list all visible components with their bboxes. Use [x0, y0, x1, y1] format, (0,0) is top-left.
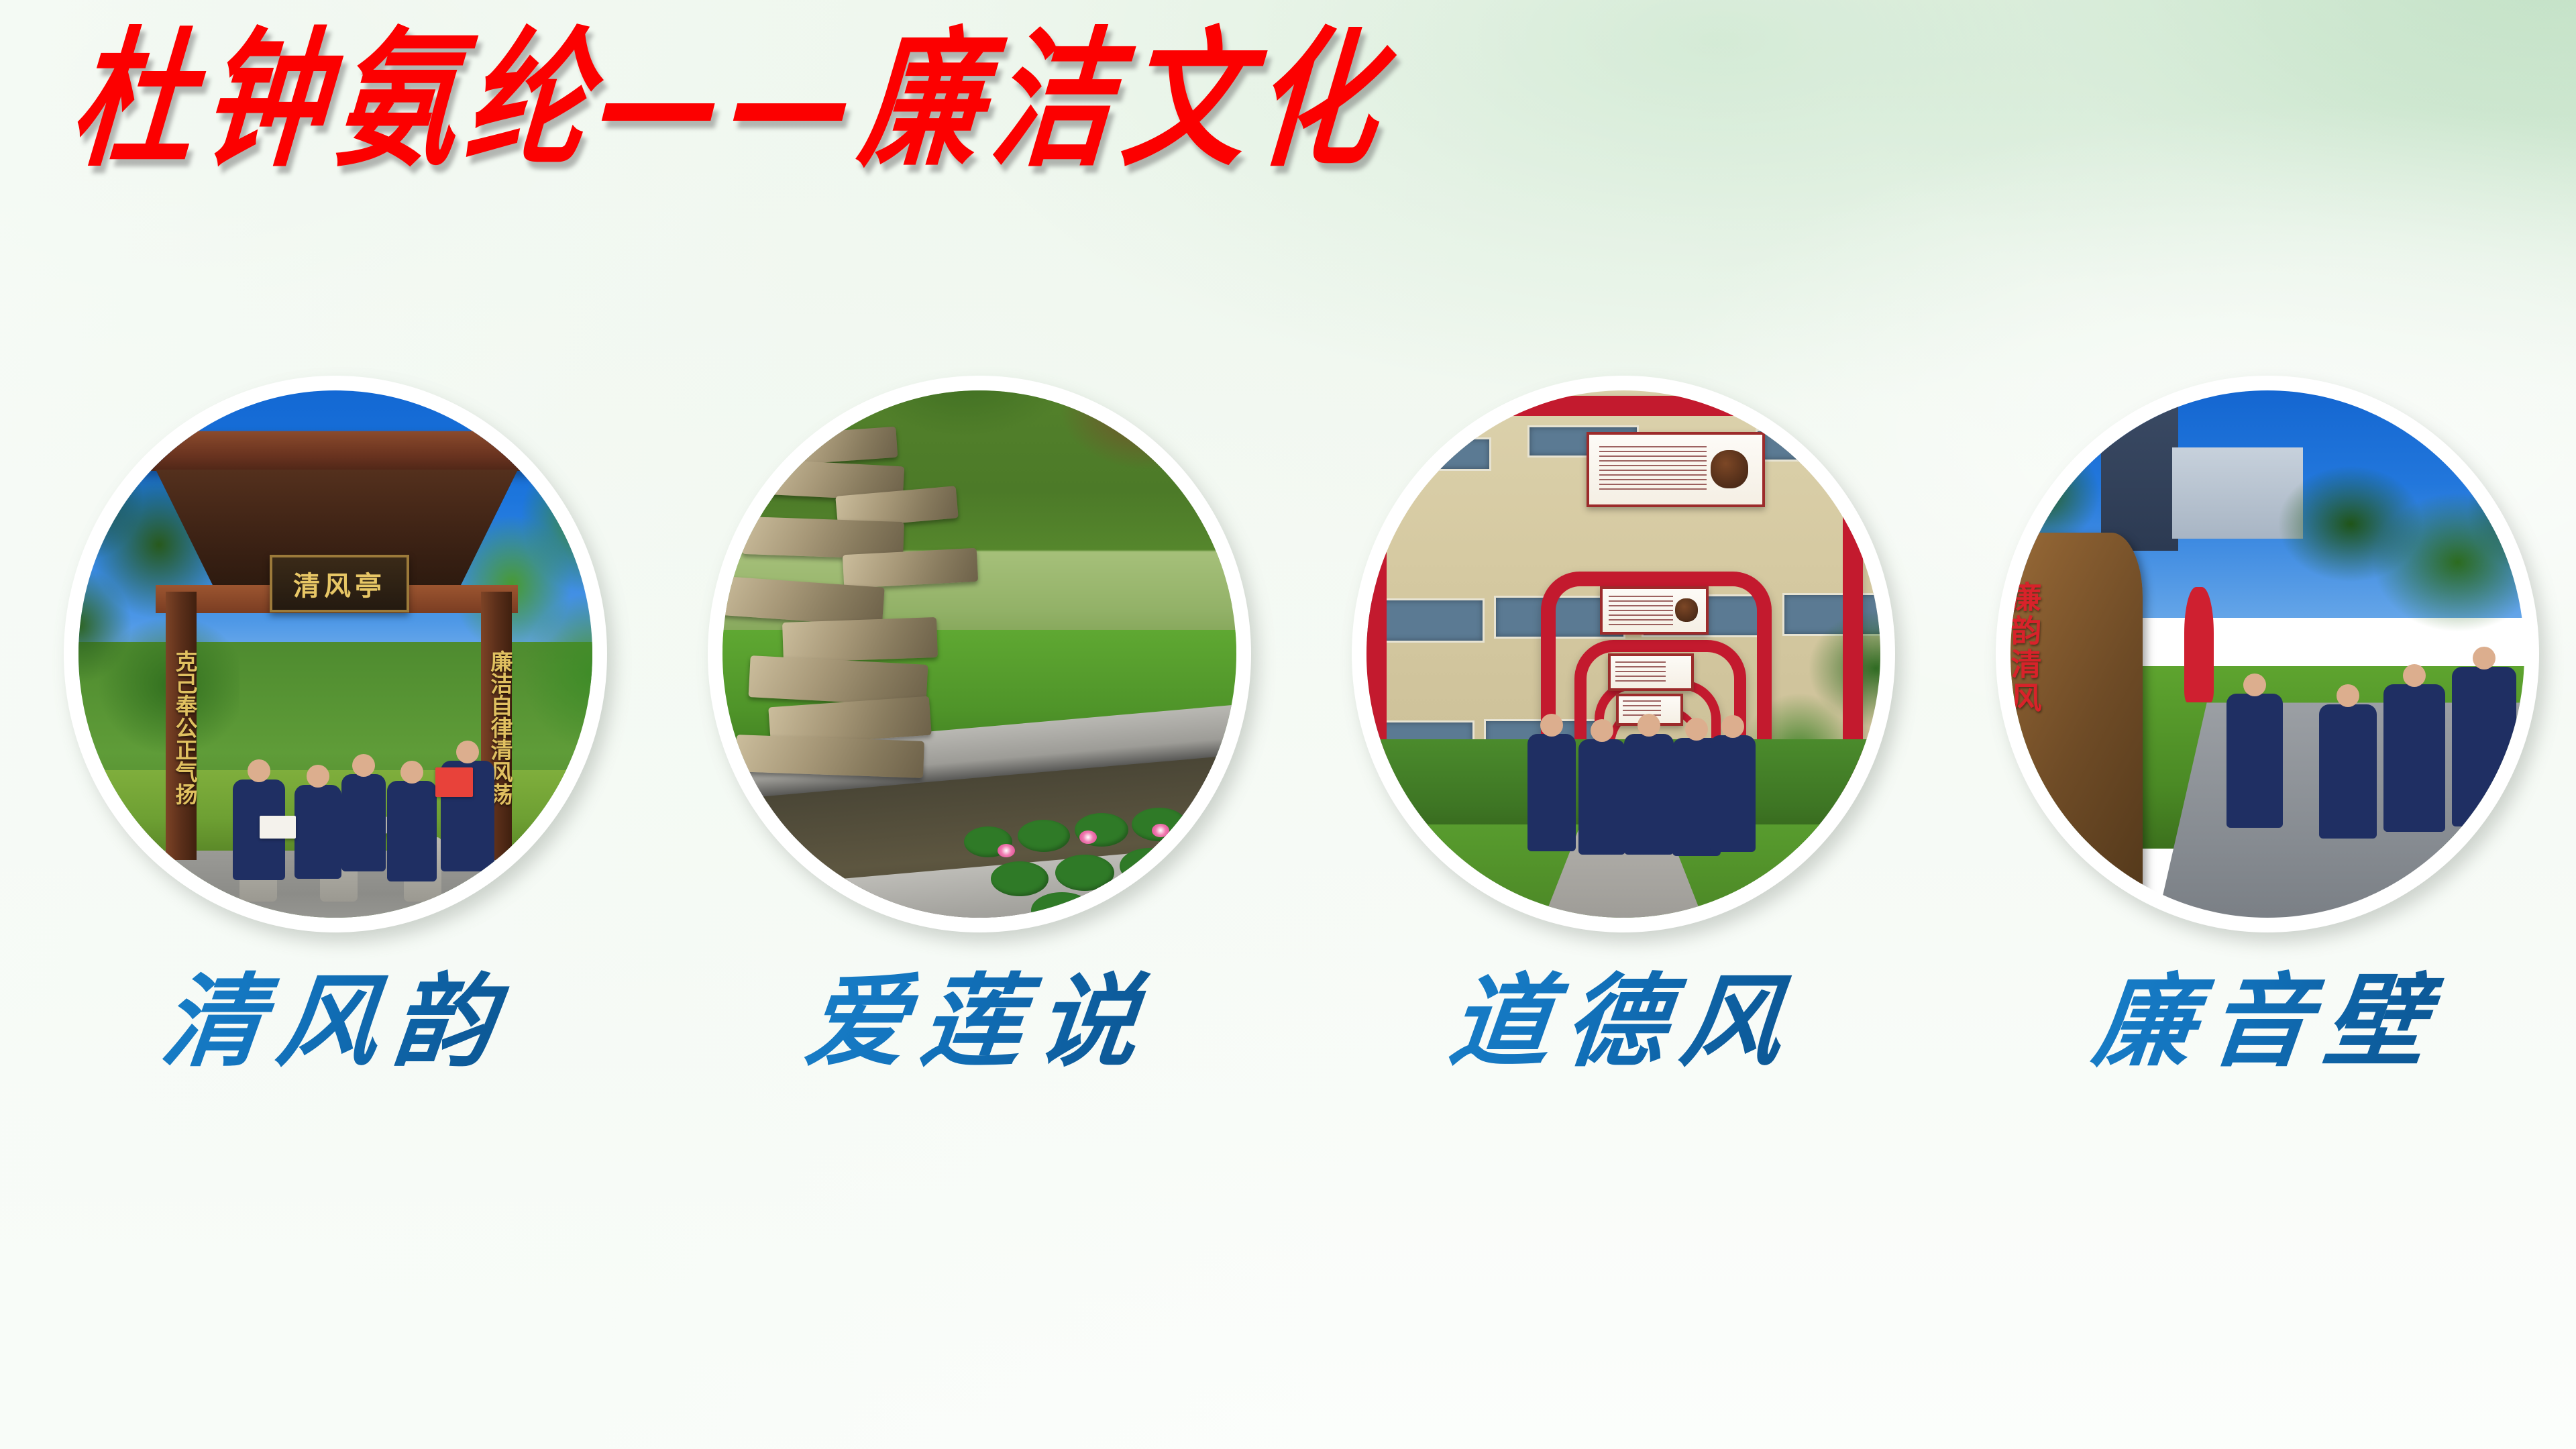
lily-pad [1167, 876, 1227, 912]
photo-frame-pavilion[interactable]: 克己奉公正气扬 廉洁自律清风荡 清风亭 [64, 376, 607, 932]
caption-ailianshuo: 爱莲说 [701, 959, 1258, 1085]
photo-gallery: 克己奉公正气扬 廉洁自律清风荡 清风亭 [0, 376, 2576, 932]
board-text-lines [1615, 661, 1665, 684]
person-head [1638, 714, 1660, 737]
scene-memorial-stone: 廉韵清风 [2010, 390, 2524, 918]
caption-qingfengyun: 清风韵 [57, 959, 614, 1085]
photo-frame-stone[interactable]: 廉韵清风 [1996, 376, 2539, 932]
slide-canvas: 杜钟氨纶——廉洁文化 [0, 0, 2576, 1449]
person [2452, 667, 2516, 826]
booklet [435, 767, 473, 797]
board-illustration [1711, 450, 1749, 488]
person [2319, 704, 2377, 839]
person-head [1540, 714, 1563, 737]
person [2383, 684, 2445, 832]
person [1710, 735, 1756, 852]
person [2226, 694, 2283, 828]
pavilion-name-plaque: 清风亭 [270, 555, 409, 612]
gallery-item-3[interactable] [1352, 376, 1895, 932]
person-head [2403, 664, 2426, 687]
photo-image-stone: 廉韵清风 [2010, 390, 2524, 918]
person [387, 781, 437, 881]
gallery-item-4[interactable]: 廉韵清风 [1996, 376, 2539, 932]
water-lily-flower [998, 844, 1015, 857]
scene-pavilion: 克己奉公正气扬 廉洁自律清风荡 清风亭 [78, 390, 592, 918]
person [294, 785, 341, 879]
person-head [307, 765, 329, 788]
red-sculpture [2184, 587, 2214, 702]
photo-image-arch [1366, 390, 1880, 918]
lily-pad [1120, 848, 1180, 884]
page-title: 杜钟氨纶——廉洁文化 [66, 21, 1394, 178]
rockery-stone [843, 548, 978, 588]
memorial-stone: 廉韵清风 [2010, 533, 2143, 918]
scene-rockery-pond [722, 390, 1236, 918]
person-head [1685, 718, 1708, 741]
lily-pad [1098, 884, 1161, 918]
person [1578, 739, 1625, 855]
rockery-stone [735, 735, 924, 778]
gallery-item-1[interactable]: 克己奉公正气扬 廉洁自律清风荡 清风亭 [64, 376, 607, 932]
booklet [260, 816, 296, 839]
rockery-stone [782, 617, 938, 663]
gallery-item-2[interactable] [708, 376, 1251, 932]
culture-board-3 [1608, 653, 1694, 691]
photo-image-rockery [722, 390, 1236, 918]
scene-red-arch-corridor [1366, 390, 1880, 918]
caption-lianyinbi: 廉音壁 [1989, 959, 2546, 1085]
water-lily-flower [1079, 830, 1097, 844]
caption-row: 清风韵 爱莲说 道德风 廉音壁 [0, 959, 2576, 1134]
board-illustration [1675, 598, 1698, 622]
culture-board-2 [1600, 586, 1709, 635]
water-lily-flower [1152, 824, 1169, 837]
person-head [2473, 647, 2495, 669]
person [341, 774, 386, 871]
person-head [2243, 674, 2266, 696]
person-head [2337, 684, 2359, 707]
culture-board-1 [1587, 432, 1765, 507]
lily-pad [1055, 855, 1114, 891]
board-text-lines [1599, 446, 1707, 494]
board-text-lines [1609, 596, 1672, 625]
pavilion-couplet-left: 克己奉公正气扬 [166, 600, 197, 855]
person [1527, 734, 1576, 851]
person-head [352, 754, 375, 777]
water-lily-flower [1207, 864, 1224, 877]
person-head [248, 759, 270, 782]
photo-image-pavilion: 克己奉公正气扬 廉洁自律清风荡 清风亭 [78, 390, 592, 918]
lily-pad [991, 861, 1049, 896]
person-head [456, 741, 479, 763]
photo-frame-arch[interactable] [1352, 376, 1895, 932]
person-head [1721, 715, 1744, 738]
stone-inscription: 廉韵清风 [2010, 581, 2042, 715]
person-head [400, 761, 423, 784]
caption-daodefeng: 道德风 [1345, 959, 1902, 1085]
person-head [1591, 719, 1613, 742]
person [1624, 734, 1674, 855]
photo-frame-rockery[interactable] [708, 376, 1251, 932]
lily-pad [1018, 820, 1070, 852]
pavilion-roof-eave [117, 431, 556, 471]
